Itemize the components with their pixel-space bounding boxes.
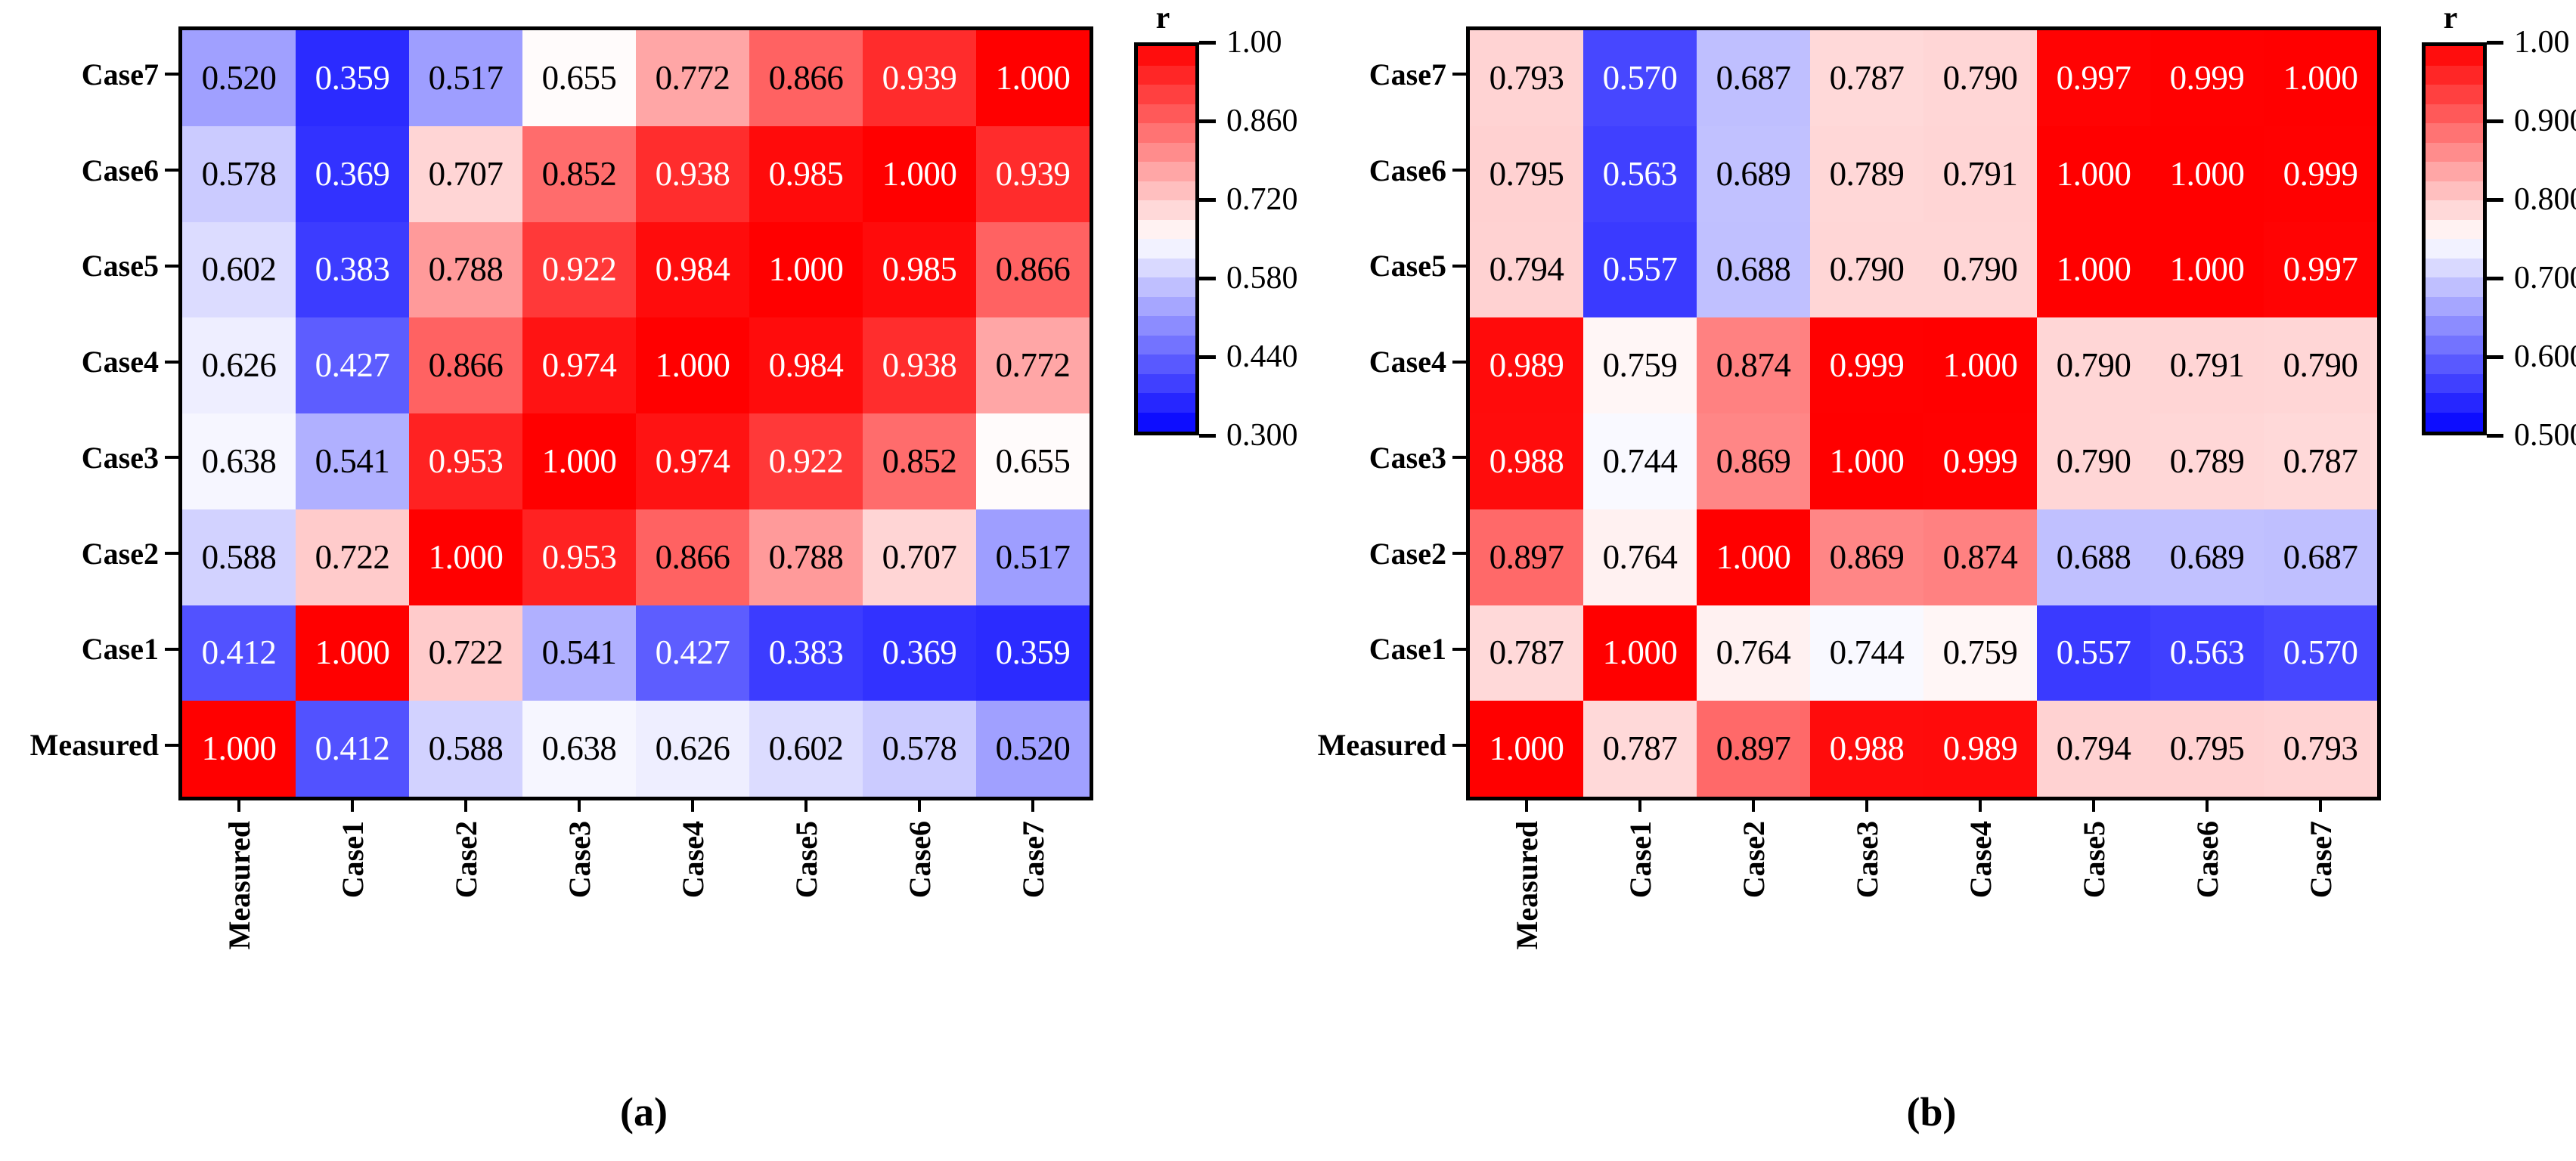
heatmap-cell: 0.563 [1583,126,1697,222]
heatmap-cell: 0.772 [976,317,1090,413]
colorbar-tick-mark [2487,41,2503,45]
heatmap-cell: 0.655 [522,30,636,126]
heatmap-cell: 1.000 [636,317,749,413]
colorbar-tick: 0.700 [2487,260,2576,296]
heatmap-cell: 1.000 [2150,222,2264,318]
heatmap-cell: 0.427 [296,317,409,413]
colorbar-tick: 0.600 [2487,339,2576,375]
colorbar-tick: 1.00 [2487,24,2570,60]
y-axis-tick-label: Case5 [82,218,178,314]
y-axis-tick-mark [1452,73,1466,76]
heatmap-cell: 0.412 [182,605,296,701]
heatmap-cell: 0.412 [296,701,409,797]
colorbar-tick-mark [2487,355,2503,359]
x-axis-tick-label: Case6 [2150,797,2264,1046]
colorbar-tick-label: 1.00 [2514,24,2570,60]
heatmap-cell: 0.655 [976,413,1090,509]
x-axis-tick-mark [1979,797,1982,812]
heatmap-cell: 0.997 [2264,222,2377,318]
panel-a: Case7Case6Case5Case4Case3Case2Case1Measu… [0,0,1288,1161]
heatmap-cell: 0.866 [749,30,863,126]
colorbar-band [1138,162,1195,181]
heatmap-cell: 0.999 [2264,126,2377,222]
colorbar-band [1138,200,1195,220]
colorbar-band [2426,181,2483,201]
y-axis-tick-label: Case7 [82,26,178,122]
heatmap-cell: 0.866 [409,317,522,413]
panel-b: Case7Case6Case5Case4Case3Case2Case1Measu… [1288,0,2575,1161]
colorbar-tick-mark [1199,434,1216,438]
heatmap-cell: 0.520 [976,701,1090,797]
heatmap-cell: 0.794 [2037,701,2150,797]
colorbar-band [1138,354,1195,374]
colorbar-tick: 0.900 [2487,103,2576,139]
heatmap-cell: 0.759 [1923,605,2037,701]
heatmap-cell: 0.759 [1583,317,1697,413]
colorbar-band [1138,181,1195,201]
heatmap-cell: 0.938 [636,126,749,222]
heatmap-cell: 0.974 [636,413,749,509]
colorbar-b: r 1.000.9000.8000.7000.6000.500 [2422,42,2576,428]
x-axis-tick-mark [1638,797,1641,812]
x-axis-tick-label: Case4 [1923,797,2037,1046]
figure-root: Case7Case6Case5Case4Case3Case2Case1Measu… [0,0,2576,1161]
heatmap-cell: 0.788 [749,509,863,605]
heatmap-cell: 0.999 [2150,30,2264,126]
x-axis-tick-mark [2092,797,2095,812]
colorbar-tick: 0.500 [2487,417,2576,454]
heatmap-cell: 0.689 [1697,126,1810,222]
y-axis-tick-mark [1452,744,1466,747]
heatmap-cell: 0.790 [1810,222,1923,318]
colorbar-band [2426,46,2483,66]
x-axis-tick-label: Case6 [863,797,976,1046]
heatmap-cell: 0.602 [749,701,863,797]
colorbar-tick-mark [2487,119,2503,123]
y-axis-tick-mark [1452,265,1466,268]
heatmap-cell: 0.722 [409,605,522,701]
colorbar-band [2426,220,2483,240]
y-axis-tick-mark [1452,361,1466,364]
heatmap-cell: 0.764 [1583,509,1697,605]
heatmap-grid-a: 0.5200.3590.5170.6550.7720.8660.9391.000… [182,30,1090,797]
x-axis-tick-mark [578,797,581,812]
heatmap-grid-b: 0.7930.5700.6870.7870.7900.9970.9991.000… [1470,30,2377,797]
colorbar-tick-mark [1199,41,1216,45]
subcaption-b: (b) [1288,1088,2575,1135]
colorbar-tick-label: 0.500 [2514,417,2576,454]
x-axis-tick-label: Case1 [296,797,409,1046]
heatmap-cell: 0.578 [182,126,296,222]
heatmap-cell: 1.000 [1583,605,1697,701]
heatmap-cell: 0.638 [522,701,636,797]
colorbar-tick: 0.860 [1199,103,1298,139]
heatmap-cell: 0.984 [636,222,749,318]
heatmap-cell: 0.588 [409,701,522,797]
colorbar-tick-mark [1199,119,1216,123]
colorbar-band [2426,354,2483,374]
x-axis-tick-mark [1752,797,1755,812]
subcaption-a: (a) [0,1088,1288,1135]
heatmap-cell: 1.000 [2264,30,2377,126]
heatmap-cell: 0.744 [1810,605,1923,701]
heatmap-cell: 0.688 [2037,509,2150,605]
heatmap-cell: 0.793 [1470,30,1583,126]
y-axis-tick-label: Case2 [82,506,178,602]
heatmap-cell: 0.517 [409,30,522,126]
x-axis-tick-label: Measured [182,797,296,1046]
x-axis-tick-mark [2319,797,2322,812]
heatmap-cell: 0.790 [2264,317,2377,413]
heatmap-cell: 0.563 [2150,605,2264,701]
heatmap-cell: 0.588 [182,509,296,605]
heatmap-cell: 0.787 [1810,30,1923,126]
heatmap-cell: 0.578 [863,701,976,797]
colorbar-band [1138,123,1195,143]
x-axis-tick-label: Case3 [522,797,636,1046]
heatmap-cell: 0.795 [1470,126,1583,222]
colorbar-band [2426,200,2483,220]
heatmap-cell: 0.866 [976,222,1090,318]
x-axis-tick-label: Case1 [1583,797,1697,1046]
heatmap-cell: 0.974 [522,317,636,413]
colorbar-band [2426,316,2483,336]
colorbar-band [2426,336,2483,355]
x-axis-tick-mark [2206,797,2209,812]
heatmap-cell: 0.866 [636,509,749,605]
y-axis-labels-a: Case7Case6Case5Case4Case3Case2Case1Measu… [0,26,178,793]
heatmap-cell: 1.000 [1697,509,1810,605]
heatmap-cell: 0.689 [2150,509,2264,605]
colorbar-title-b: r [2422,0,2479,36]
colorbar-band [1138,85,1195,104]
x-axis-tick-mark [464,797,467,812]
heatmap-cell: 0.939 [863,30,976,126]
y-axis-tick-label: Case3 [82,410,178,506]
x-axis-labels-b: MeasuredCase1Case2Case3Case4Case5Case6Ca… [1470,797,2377,1046]
colorbar-tick-mark [2487,198,2503,202]
heatmap-cell: 0.541 [522,605,636,701]
y-axis-tick-label: Case1 [82,602,178,698]
heatmap-cell: 1.000 [2037,126,2150,222]
heatmap-cell: 0.626 [182,317,296,413]
heatmap-cell: 0.787 [1583,701,1697,797]
x-axis-tick-label: Case5 [749,797,863,1046]
colorbar-tick: 0.800 [2487,181,2576,218]
heatmap-cell: 0.787 [1470,605,1583,701]
colorbar-tick-mark [2487,434,2503,438]
heatmap-cell: 0.570 [1583,30,1697,126]
colorbar-tick-label: 0.700 [2514,260,2576,296]
y-axis-tick-label: Case4 [82,314,178,410]
colorbar-band [1138,239,1195,259]
x-axis-tick-label: Case4 [636,797,749,1046]
y-axis-tick-label: Case6 [82,122,178,218]
heatmap-cell: 0.985 [749,126,863,222]
heatmap-cell: 0.988 [1470,413,1583,509]
y-axis-tick-mark [1452,552,1466,555]
y-axis-tick-label: Measured [1318,697,1466,793]
y-axis-tick-mark [165,169,178,172]
heatmap-cell: 0.520 [182,30,296,126]
heatmap-cell: 0.795 [2150,701,2264,797]
heatmap-cell: 0.764 [1697,605,1810,701]
heatmap-cell: 0.989 [1470,317,1583,413]
heatmap-cell: 0.541 [296,413,409,509]
x-axis-labels-a: MeasuredCase1Case2Case3Case4Case5Case6Ca… [182,797,1090,1046]
heatmap-cell: 1.000 [2037,222,2150,318]
heatmap-cell: 0.985 [863,222,976,318]
colorbar-band [2426,66,2483,85]
x-axis-tick-mark [804,797,808,812]
heatmap-cell: 1.000 [1923,317,2037,413]
heatmap-cell: 0.988 [1810,701,1923,797]
heatmap-cell: 0.788 [409,222,522,318]
colorbar-tick-label: 0.800 [2514,181,2576,218]
heatmap-cell: 0.791 [1923,126,2037,222]
x-axis-tick-label: Case7 [976,797,1090,1046]
y-axis-tick-label: Case7 [1369,26,1466,122]
colorbar-band [1138,316,1195,336]
x-axis-tick-mark [351,797,354,812]
colorbar-band [1138,46,1195,66]
heatmap-cell: 0.869 [1697,413,1810,509]
heatmap-cell: 0.557 [1583,222,1697,318]
heatmap-cell: 0.369 [863,605,976,701]
colorbar-tick-mark [1199,277,1216,280]
heatmap-cell: 0.852 [522,126,636,222]
y-axis-tick-label: Case3 [1369,410,1466,506]
heatmap-cell: 0.790 [2037,413,2150,509]
y-axis-tick-label: Case6 [1369,122,1466,218]
heatmap-cell: 1.000 [1470,701,1583,797]
heatmap-cell: 0.359 [976,605,1090,701]
heatmap-cell: 0.517 [976,509,1090,605]
colorbar-tick: 0.440 [1199,339,1298,375]
y-axis-tick-mark [1452,456,1466,459]
heatmap-cell: 0.953 [409,413,522,509]
heatmap-cell: 0.557 [2037,605,2150,701]
heatmap-cell: 0.869 [1810,509,1923,605]
colorbar-band [1138,393,1195,413]
colorbar-band [2426,123,2483,143]
heatmap-cell: 0.626 [636,701,749,797]
colorbar-band [1138,336,1195,355]
colorbar-band [1138,220,1195,240]
heatmap-cell: 0.997 [2037,30,2150,126]
heatmap-cell: 0.922 [522,222,636,318]
colorbar-title-a: r [1134,0,1192,36]
colorbar-gradient-a [1134,42,1199,435]
x-axis-tick-label: Case3 [1810,797,1923,1046]
y-axis-tick-label: Case2 [1369,506,1466,602]
heatmap-cell: 0.922 [749,413,863,509]
colorbar-tick-mark [2487,277,2503,280]
heatmap-cell: 1.000 [296,605,409,701]
heatmap-cell: 0.602 [182,222,296,318]
heatmap-cell: 0.897 [1470,509,1583,605]
colorbar-band [2426,277,2483,297]
x-axis-tick-label: Case7 [2264,797,2377,1046]
heatmap-cell: 0.787 [2264,413,2377,509]
y-axis-tick-mark [1452,648,1466,651]
colorbar-band [1138,66,1195,85]
y-axis-tick-label: Case1 [1369,602,1466,698]
heatmap-a: 0.5200.3590.5170.6550.7720.8660.9391.000… [178,26,1093,800]
heatmap-cell: 0.790 [1923,30,2037,126]
colorbar-gradient-b [2422,42,2487,435]
colorbar-band [2426,374,2483,394]
heatmap-cell: 0.852 [863,413,976,509]
colorbar-tick: 1.00 [1199,24,1282,60]
colorbar-band [1138,413,1195,432]
y-axis-tick-mark [165,744,178,747]
heatmap-cell: 1.000 [863,126,976,222]
heatmap-cell: 0.874 [1697,317,1810,413]
heatmap-cell: 1.000 [2150,126,2264,222]
heatmap-cell: 0.938 [863,317,976,413]
colorbar-tick-label: 1.00 [1226,24,1282,60]
x-axis-tick-mark [1031,797,1034,812]
colorbar-tick: 0.720 [1199,181,1298,218]
colorbar-band [1138,277,1195,297]
heatmap-cell: 0.744 [1583,413,1697,509]
heatmap-cell: 0.939 [976,126,1090,222]
heatmap-cell: 0.790 [1923,222,2037,318]
colorbar-band [1138,374,1195,394]
y-axis-labels-b: Case7Case6Case5Case4Case3Case2Case1Measu… [1288,26,1466,793]
x-axis-tick-mark [918,797,921,812]
heatmap-cell: 1.000 [522,413,636,509]
heatmap-b: 0.7930.5700.6870.7870.7900.9970.9991.000… [1466,26,2381,800]
colorbar-band [2426,104,2483,124]
heatmap-cell: 0.953 [522,509,636,605]
heatmap-cell: 0.359 [296,30,409,126]
heatmap-cell: 0.383 [749,605,863,701]
y-axis-tick-label: Measured [30,697,178,793]
x-axis-tick-label: Case5 [2037,797,2150,1046]
heatmap-cell: 0.772 [636,30,749,126]
heatmap-cell: 0.999 [1810,317,1923,413]
heatmap-cell: 0.383 [296,222,409,318]
heatmap-cell: 1.000 [1810,413,1923,509]
x-axis-tick-mark [691,797,694,812]
heatmap-cell: 0.793 [2264,701,2377,797]
heatmap-cell: 0.570 [2264,605,2377,701]
heatmap-cell: 0.989 [1923,701,2037,797]
y-axis-tick-mark [165,361,178,364]
colorbar-band [1138,259,1195,278]
heatmap-cell: 0.999 [1923,413,2037,509]
x-axis-tick-label: Measured [1470,797,1583,1046]
y-axis-tick-mark [165,265,178,268]
heatmap-cell: 0.874 [1923,509,2037,605]
colorbar-band [1138,143,1195,163]
heatmap-cell: 0.707 [863,509,976,605]
colorbar-band [2426,85,2483,104]
y-axis-tick-mark [165,648,178,651]
heatmap-cell: 0.791 [2150,317,2264,413]
colorbar-tick: 0.300 [1199,417,1298,454]
colorbar-tick-label: 0.600 [2514,339,2576,375]
colorbar-tick-mark [1199,198,1216,202]
y-axis-tick-mark [165,456,178,459]
heatmap-cell: 1.000 [182,701,296,797]
heatmap-cell: 0.427 [636,605,749,701]
colorbar-band [2426,393,2483,413]
heatmap-cell: 0.789 [2150,413,2264,509]
heatmap-cell: 1.000 [409,509,522,605]
colorbar-band [2426,413,2483,432]
heatmap-cell: 0.789 [1810,126,1923,222]
colorbar-tick-mark [1199,355,1216,359]
colorbar-tick-label: 0.900 [2514,103,2576,139]
y-axis-tick-mark [165,73,178,76]
y-axis-tick-mark [165,552,178,555]
y-axis-tick-mark [1452,169,1466,172]
heatmap-cell: 0.707 [409,126,522,222]
heatmap-cell: 0.688 [1697,222,1810,318]
x-axis-tick-label: Case2 [1697,797,1810,1046]
x-axis-tick-mark [1865,797,1868,812]
x-axis-tick-label: Case2 [409,797,522,1046]
x-axis-tick-mark [237,797,240,812]
y-axis-tick-label: Case4 [1369,314,1466,410]
colorbar-band [2426,143,2483,163]
colorbar-band [2426,239,2483,259]
heatmap-cell: 0.638 [182,413,296,509]
heatmap-cell: 1.000 [976,30,1090,126]
heatmap-cell: 0.984 [749,317,863,413]
heatmap-cell: 0.722 [296,509,409,605]
heatmap-cell: 0.794 [1470,222,1583,318]
heatmap-cell: 0.369 [296,126,409,222]
colorbar-band [1138,297,1195,317]
colorbar-band [2426,259,2483,278]
colorbar-band [2426,162,2483,181]
colorbar-band [1138,104,1195,124]
heatmap-cell: 0.687 [2264,509,2377,605]
colorbar-band [2426,297,2483,317]
x-axis-tick-mark [1525,797,1528,812]
colorbar-tick: 0.580 [1199,260,1298,296]
heatmap-cell: 1.000 [749,222,863,318]
heatmap-cell: 0.897 [1697,701,1810,797]
heatmap-cell: 0.790 [2037,317,2150,413]
y-axis-tick-label: Case5 [1369,218,1466,314]
heatmap-cell: 0.687 [1697,30,1810,126]
